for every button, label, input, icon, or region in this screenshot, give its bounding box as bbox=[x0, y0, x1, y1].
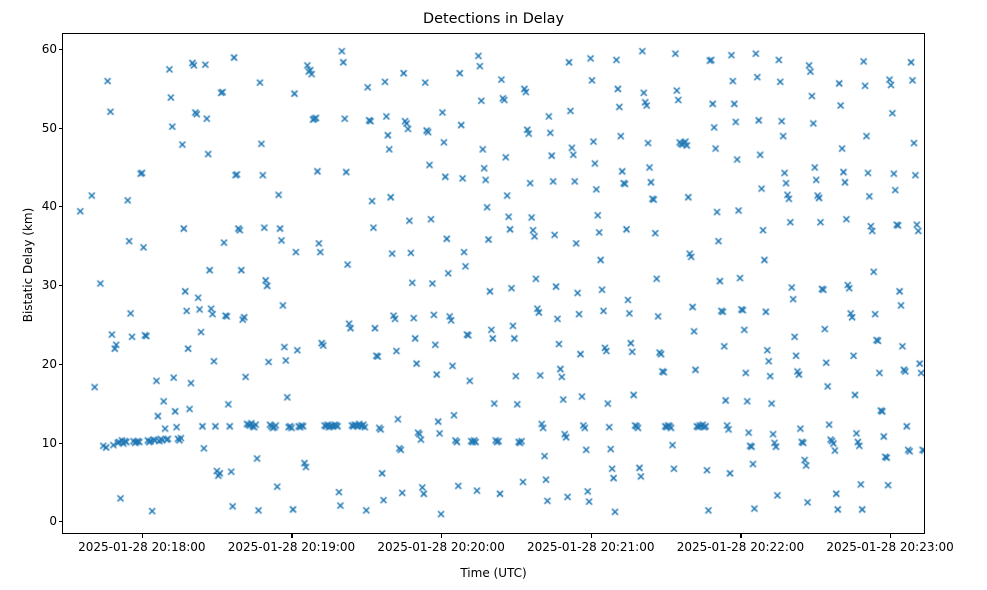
y-tick-label: 60 bbox=[0, 42, 57, 56]
y-tick-label: 30 bbox=[0, 278, 57, 292]
y-tick-mark bbox=[59, 521, 63, 522]
y-tick-mark bbox=[59, 364, 63, 365]
scatter-plot-canvas bbox=[63, 34, 924, 533]
x-tick-mark bbox=[740, 534, 741, 538]
matplotlib-figure: Detections in Delay Bistatic Delay (km) … bbox=[0, 0, 987, 590]
x-tick-mark bbox=[142, 534, 143, 538]
chart-title: Detections in Delay bbox=[0, 10, 987, 28]
x-tick-label: 2025-01-28 20:23:00 bbox=[780, 540, 987, 555]
y-tick-mark bbox=[59, 128, 63, 129]
y-tick-mark bbox=[59, 206, 63, 207]
x-tick-mark bbox=[441, 534, 442, 538]
y-tick-label: 0 bbox=[0, 514, 57, 528]
y-tick-label: 20 bbox=[0, 357, 57, 371]
x-tick-mark bbox=[291, 534, 292, 538]
y-tick-mark bbox=[59, 443, 63, 444]
y-tick-mark bbox=[59, 49, 63, 50]
y-tick-label: 40 bbox=[0, 199, 57, 213]
x-tick-mark bbox=[890, 534, 891, 538]
plot-axes-area bbox=[62, 33, 925, 534]
x-axis-label: Time (UTC) bbox=[0, 566, 987, 580]
y-tick-label: 50 bbox=[0, 121, 57, 135]
y-tick-mark bbox=[59, 285, 63, 286]
x-tick-mark bbox=[591, 534, 592, 538]
y-tick-label: 10 bbox=[0, 436, 57, 450]
